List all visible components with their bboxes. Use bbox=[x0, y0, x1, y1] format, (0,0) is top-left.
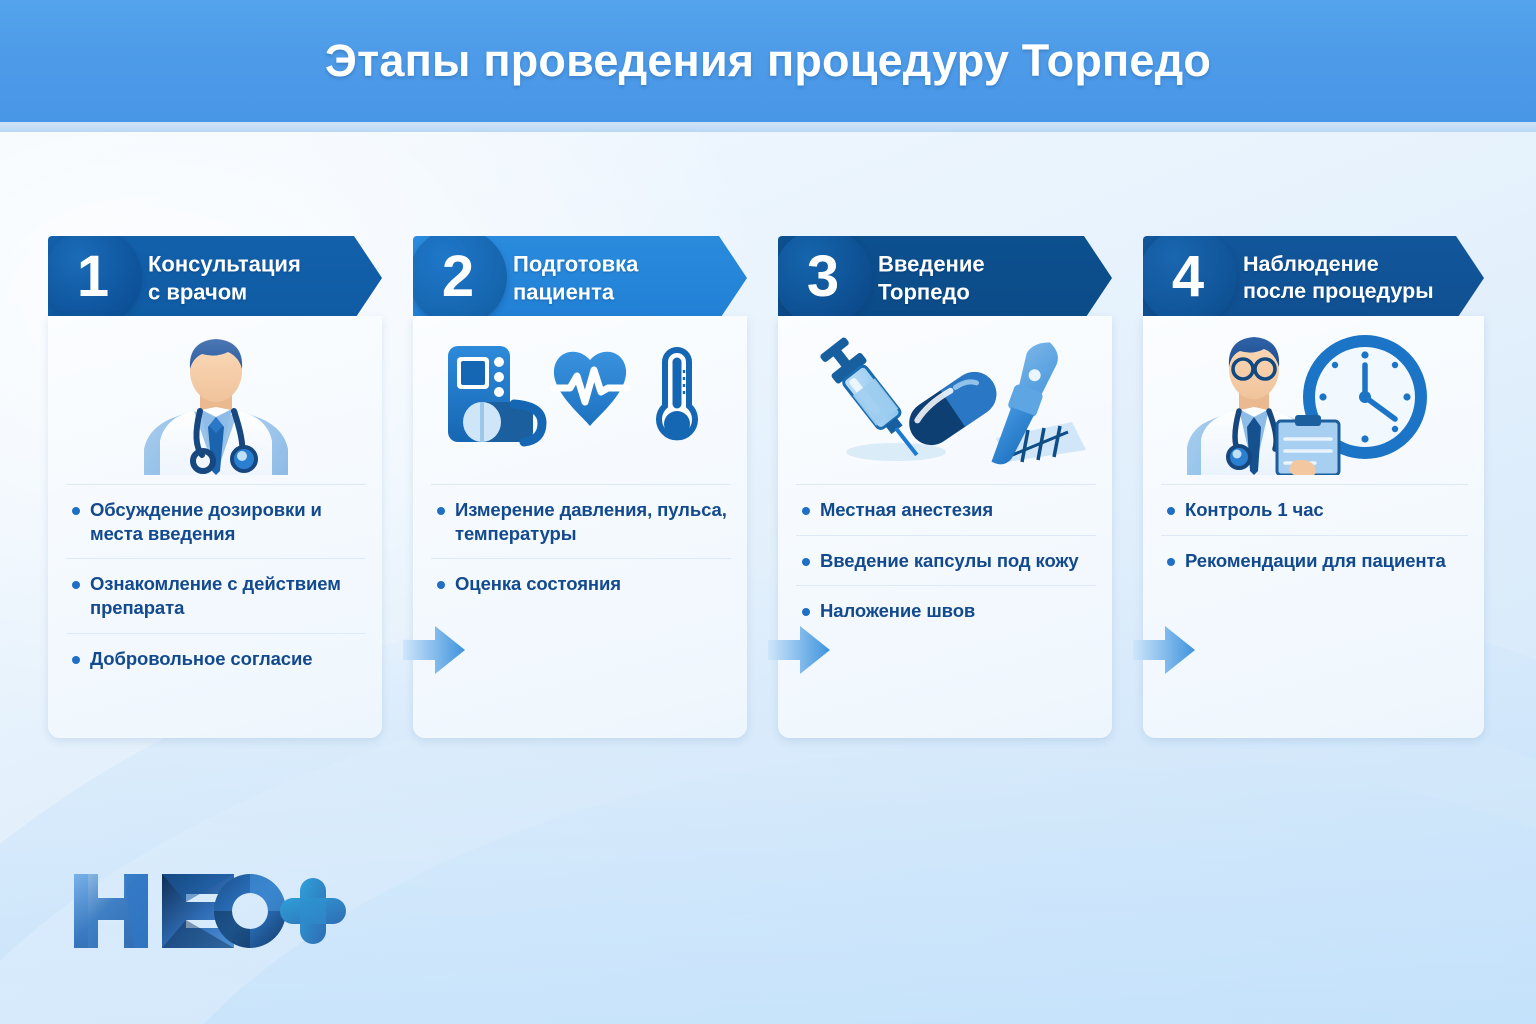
step-3-icon-area bbox=[778, 316, 1112, 484]
bullet-label: Оценка состояния bbox=[455, 572, 621, 596]
bullet-label: Контроль 1 час bbox=[1185, 498, 1324, 522]
bullet-label: Рекомендации для пациента bbox=[1185, 549, 1446, 573]
step-4-title: Наблюдение после процедуры bbox=[1243, 251, 1434, 305]
bullet-label: Ознакомление с действием препарата bbox=[90, 572, 362, 619]
arrow-step3-to-step4-icon bbox=[1133, 624, 1195, 676]
step-4-icon-area bbox=[1143, 316, 1484, 484]
header-underline bbox=[0, 122, 1536, 132]
arrow-step1-to-step2-icon bbox=[403, 624, 465, 676]
step-2-number-badge: 2 bbox=[409, 228, 507, 326]
bullet-dot-icon bbox=[72, 507, 80, 515]
doctor-with-stethoscope-icon bbox=[108, 325, 323, 475]
infographic-page: Этапы проведения процедуру Торпедо 1 Кон… bbox=[0, 0, 1536, 1024]
doctor-with-clipboard-and-clock-icon bbox=[1169, 325, 1459, 475]
step-card-1[interactable]: 1 Консультация с врачом bbox=[48, 232, 382, 738]
bullet-label: Измерение давления, пульса, температуры bbox=[455, 498, 727, 545]
bullet-dot-icon bbox=[72, 656, 80, 664]
step-1-body: Обсуждение дозировки и места введения Оз… bbox=[48, 316, 382, 738]
bullet-dot-icon bbox=[437, 581, 445, 589]
bullet-dot-icon bbox=[802, 608, 810, 616]
list-item: Ознакомление с действием препарата bbox=[66, 558, 366, 632]
bullet-dot-icon bbox=[72, 581, 80, 589]
syringe-capsule-scalpel-sutures-icon bbox=[800, 330, 1090, 470]
bullet-label: Местная анестезия bbox=[820, 498, 993, 522]
list-item: Наложение швов bbox=[796, 585, 1096, 636]
step-4-bullet-list: Контроль 1 час Рекомендации для пациента bbox=[1143, 484, 1484, 585]
bullet-dot-icon bbox=[802, 558, 810, 566]
blood-pressure-monitor-heart-thermometer-icons bbox=[438, 340, 723, 460]
list-item: Оценка состояния bbox=[431, 558, 731, 609]
step-3-banner: 3 Введение Торпедо bbox=[778, 236, 1112, 320]
step-2-bullet-list: Измерение давления, пульса, температуры … bbox=[413, 484, 747, 609]
step-4-number-badge: 4 bbox=[1139, 228, 1237, 326]
list-item: Местная анестезия bbox=[796, 484, 1096, 535]
list-item: Добровольное согласие bbox=[66, 633, 366, 684]
step-1-title: Консультация с врачом bbox=[148, 250, 301, 305]
step-1-icon-area bbox=[48, 316, 382, 484]
bullet-dot-icon bbox=[802, 507, 810, 515]
bullet-label: Наложение швов bbox=[820, 599, 975, 623]
header-bar: Этапы проведения процедуру Торпедо bbox=[0, 0, 1536, 122]
step-2-title: Подготовка пациента bbox=[513, 250, 638, 305]
step-1-bullet-list: Обсуждение дозировки и места введения Оз… bbox=[48, 484, 382, 683]
step-3-bullet-list: Местная анестезия Введение капсулы под к… bbox=[778, 484, 1112, 636]
bullet-label: Введение капсулы под кожу bbox=[820, 549, 1079, 573]
bullet-label: Обсуждение дозировки и места введения bbox=[90, 498, 362, 545]
list-item: Рекомендации для пациента bbox=[1161, 535, 1468, 586]
arrow-step2-to-step3-icon bbox=[768, 624, 830, 676]
step-2-banner: 2 Подготовка пациента bbox=[413, 236, 747, 320]
brand-logo bbox=[68, 868, 348, 954]
step-1-banner: 1 Консультация с врачом bbox=[48, 236, 382, 320]
page-title: Этапы проведения процедуру Торпедо bbox=[325, 35, 1211, 87]
steps-container: 1 Консультация с врачом bbox=[48, 232, 1488, 742]
neo-plus-logo-icon bbox=[68, 868, 348, 954]
step-1-number-badge: 1 bbox=[44, 228, 142, 326]
list-item: Введение капсулы под кожу bbox=[796, 535, 1096, 586]
list-item: Измерение давления, пульса, температуры bbox=[431, 484, 731, 558]
list-item: Обсуждение дозировки и места введения bbox=[66, 484, 366, 558]
step-3-number-badge: 3 bbox=[774, 228, 872, 326]
bullet-dot-icon bbox=[1167, 558, 1175, 566]
bullet-dot-icon bbox=[1167, 507, 1175, 515]
bullet-label: Добровольное согласие bbox=[90, 647, 312, 671]
step-4-banner: 4 Наблюдение после процедуры bbox=[1143, 236, 1484, 320]
list-item: Контроль 1 час bbox=[1161, 484, 1468, 535]
step-3-title: Введение Торпедо bbox=[878, 250, 985, 305]
bullet-dot-icon bbox=[437, 507, 445, 515]
step-2-icon-area bbox=[413, 316, 747, 484]
